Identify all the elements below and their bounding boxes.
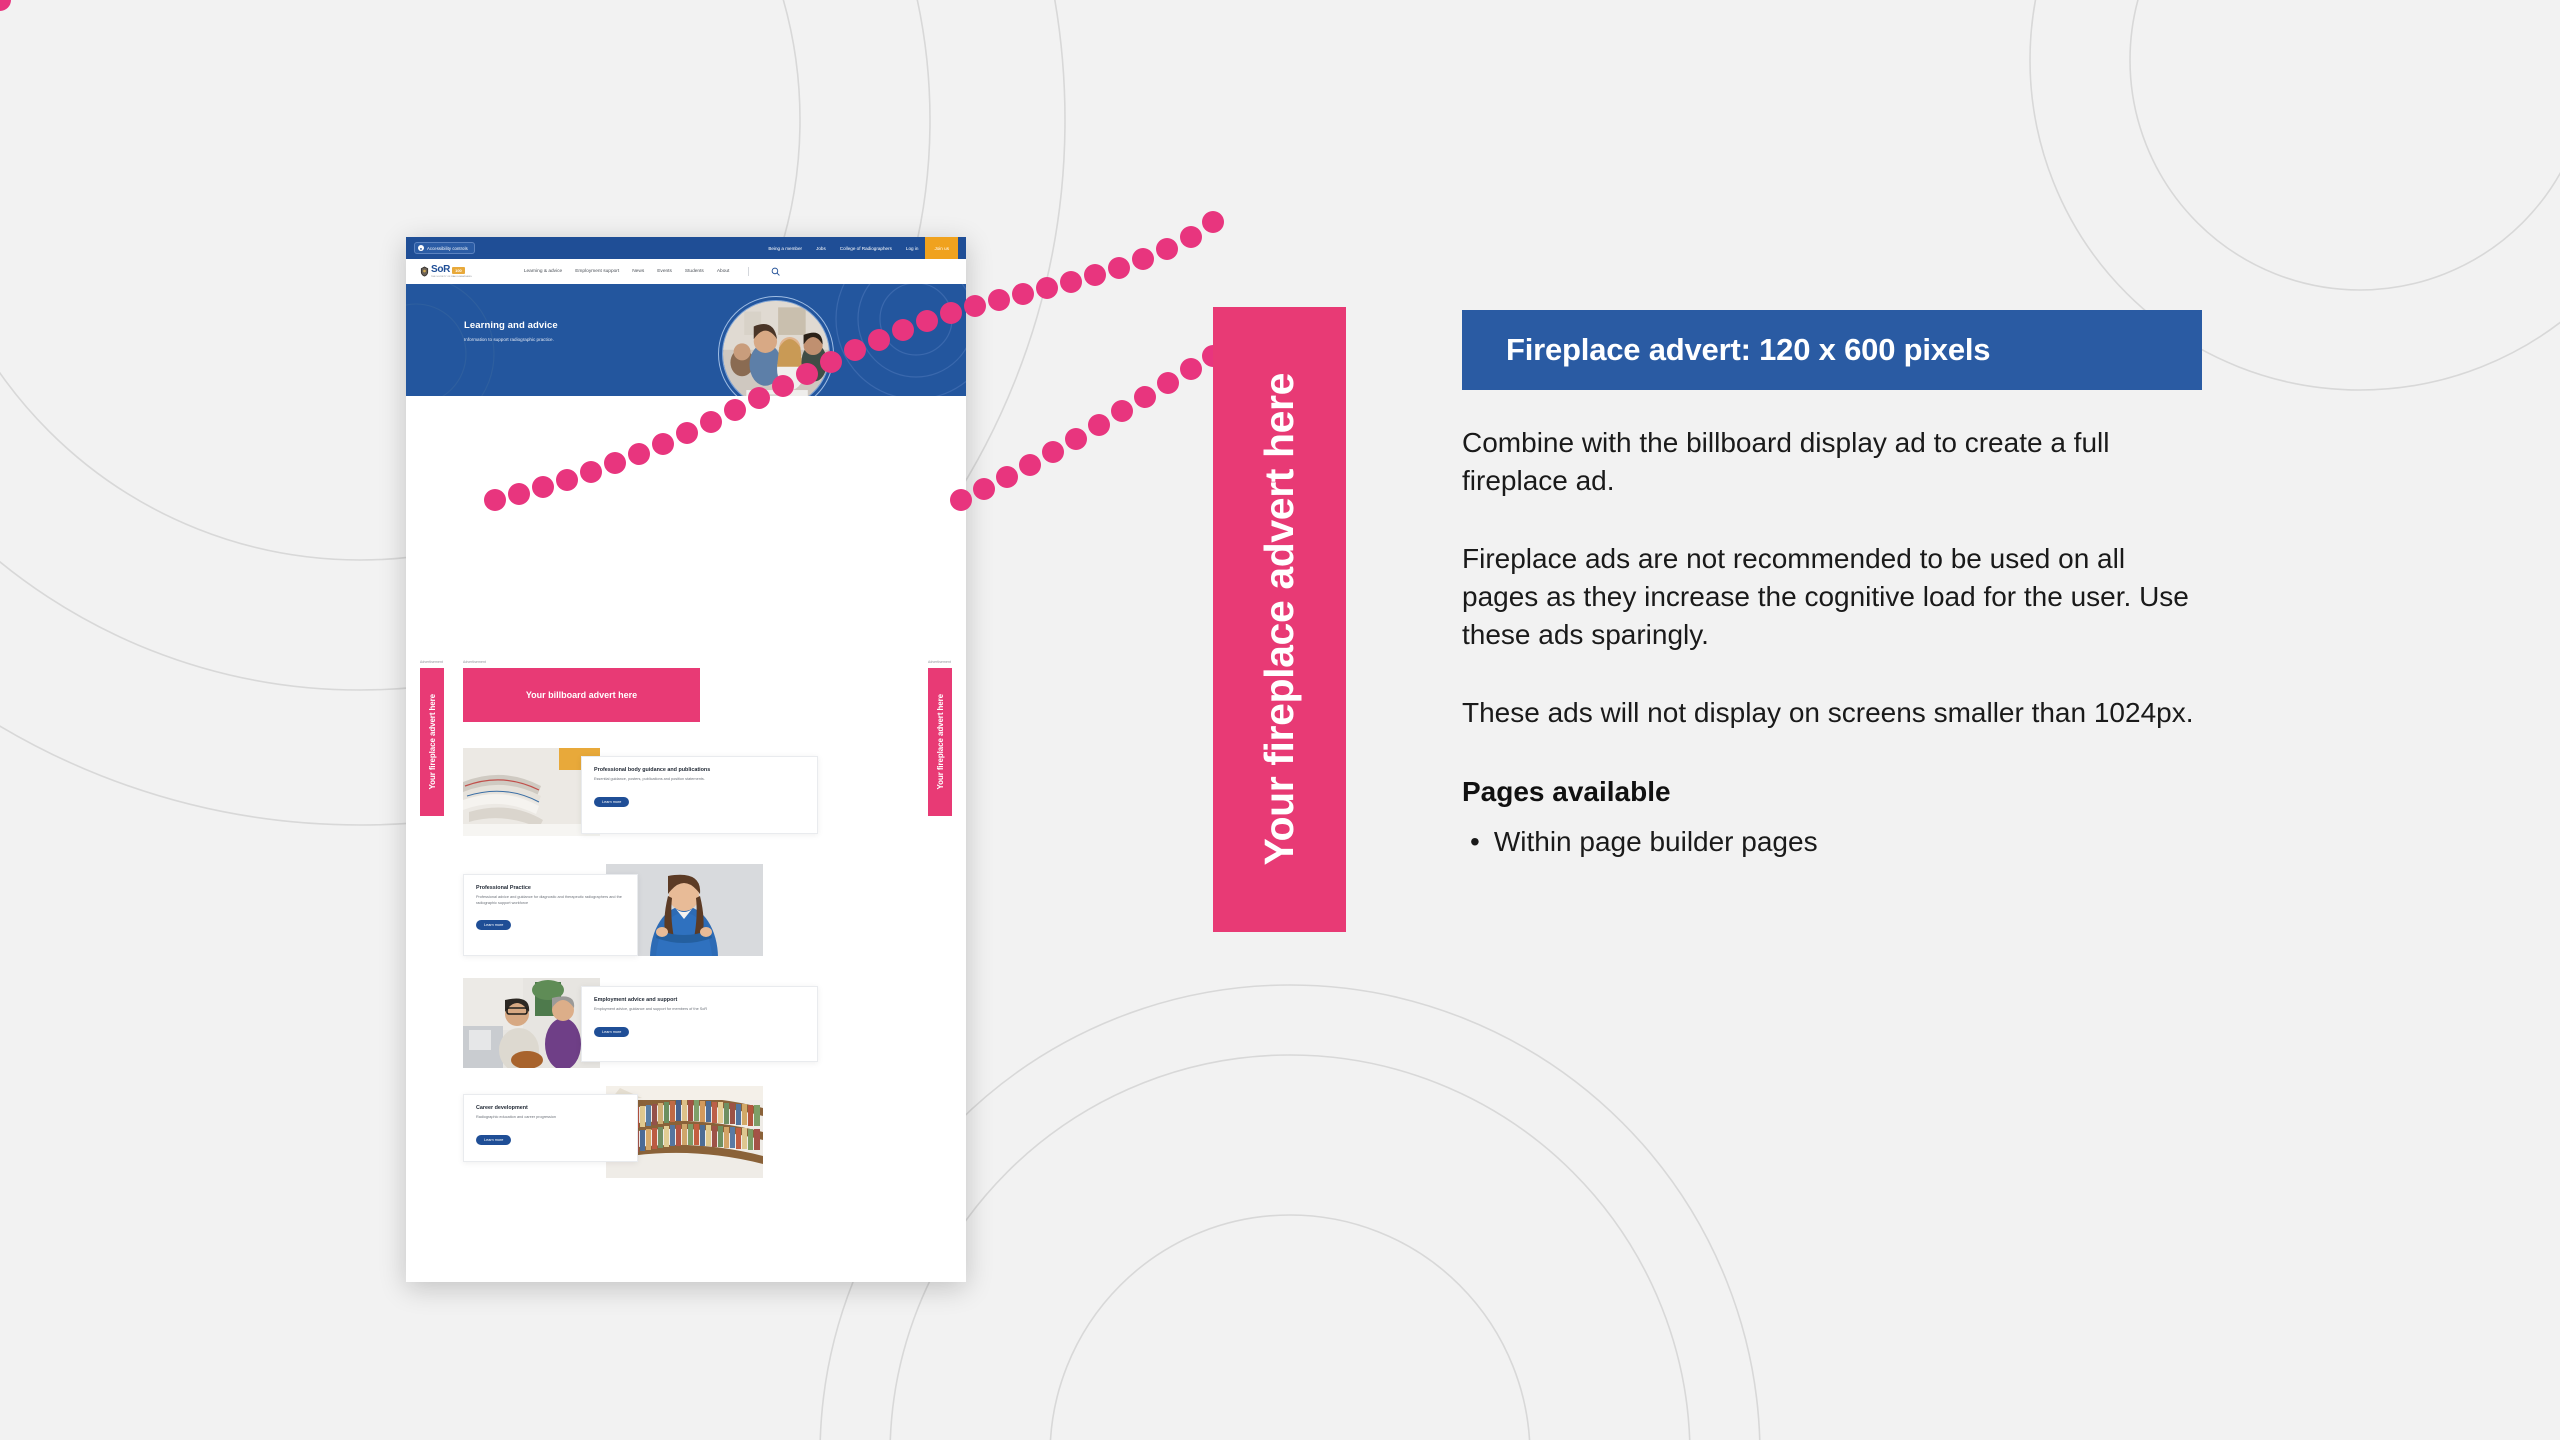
- info-paragraph-3: These ads will not display on screens sm…: [1462, 694, 2202, 732]
- billboard-ad-text: Your billboard advert here: [526, 690, 637, 700]
- hero-banner: Learning and advice Information to suppo…: [406, 284, 966, 396]
- nav-item-about[interactable]: About: [717, 269, 730, 274]
- crest-icon: [420, 266, 429, 277]
- info-paragraph-1: Combine with the billboard display ad to…: [1462, 424, 2202, 500]
- utility-topbar: ● Accessibility controls Being a member …: [406, 237, 966, 259]
- open-books-photo: [463, 748, 600, 836]
- logo-wordmark: SoR: [431, 265, 450, 275]
- billboard-ad[interactable]: Your billboard advert here: [463, 668, 700, 722]
- hero-subtitle: Information to support radiographic prac…: [464, 337, 558, 342]
- main-navbar: SoR 100 THE SOCIETY OF RADIOGRAPHERS Lea…: [406, 259, 966, 284]
- info-paragraph-2: Fireplace ads are not recommended to be …: [1462, 540, 2202, 654]
- logo-centenary-badge: 100: [452, 267, 465, 274]
- accessibility-icon: ●: [418, 245, 424, 251]
- hero-text-block: Learning and advice Information to suppo…: [464, 320, 558, 342]
- content-card-4-box: Career development Radiographic educatio…: [463, 1094, 638, 1162]
- content-card-1-learn-more-button[interactable]: Learn more: [594, 797, 629, 807]
- content-card-1-desc: Essential guidance, posters, publication…: [594, 777, 805, 783]
- utility-links: Being a member Jobs College of Radiograp…: [761, 237, 958, 259]
- advertisement-label-left: Advertisement: [420, 660, 443, 664]
- utility-link-join-us[interactable]: Join us: [925, 237, 958, 259]
- fireplace-ad-left-text: Your fireplace advert here: [428, 694, 437, 790]
- nav-item-news[interactable]: News: [632, 269, 644, 274]
- nav-item-students[interactable]: Students: [685, 269, 704, 274]
- nav-item-employment-support[interactable]: Employment support: [575, 269, 619, 274]
- hero-rings-decoration: [826, 284, 966, 396]
- utility-link-college-of-radiographers[interactable]: College of Radiographers: [833, 237, 899, 259]
- nav-item-events[interactable]: Events: [657, 269, 672, 274]
- content-card-2-learn-more-button[interactable]: Learn more: [476, 920, 511, 930]
- advertisement-label-right: Advertisement: [928, 660, 951, 664]
- website-mockup: ● Accessibility controls Being a member …: [406, 237, 966, 1282]
- content-card-3-learn-more-button[interactable]: Learn more: [594, 1027, 629, 1037]
- accessibility-label: Accessibility controls: [427, 246, 468, 251]
- primary-nav: Learning & advice Employment support New…: [524, 267, 781, 276]
- content-card-3-desc: Employment advice, guidance and support …: [594, 1007, 805, 1013]
- pages-available-list: • Within page builder pages: [1462, 826, 2202, 858]
- advertisement-label-billboard: Advertisement: [463, 660, 486, 664]
- hero-title: Learning and advice: [464, 320, 558, 331]
- counselling-session-photo: [463, 978, 600, 1068]
- content-card-1-title: Professional body guidance and publicati…: [594, 767, 805, 773]
- info-panel-heading: Fireplace advert: 120 x 600 pixels: [1462, 310, 2202, 390]
- bullet-glyph: •: [1470, 826, 1480, 858]
- content-card-1-box: Professional body guidance and publicati…: [581, 756, 818, 834]
- search-icon[interactable]: [771, 267, 780, 276]
- pages-available-heading: Pages available: [1462, 776, 2202, 808]
- content-card-3-title: Employment advice and support: [594, 997, 805, 1003]
- content-card-4-learn-more-button[interactable]: Learn more: [476, 1135, 511, 1145]
- sor-logo[interactable]: SoR 100 THE SOCIETY OF RADIOGRAPHERS: [420, 265, 472, 278]
- utility-link-jobs[interactable]: Jobs: [809, 237, 833, 259]
- content-card-2-title: Professional Practice: [476, 885, 625, 891]
- utility-link-log-in[interactable]: Log in: [899, 237, 926, 259]
- fireplace-ad-left[interactable]: Your fireplace advert here: [420, 668, 444, 816]
- content-card-4-desc: Radiographic education and career progre…: [476, 1115, 625, 1121]
- content-card-4-title: Career development: [476, 1105, 625, 1111]
- nav-item-learning-advice[interactable]: Learning & advice: [524, 269, 562, 274]
- info-panel: Fireplace advert: 120 x 600 pixels Combi…: [1462, 310, 2202, 858]
- logo-subtitle: THE SOCIETY OF RADIOGRAPHERS: [431, 276, 472, 278]
- accessibility-controls-button[interactable]: ● Accessibility controls: [414, 242, 475, 254]
- bullet-text: Within page builder pages: [1494, 826, 1818, 858]
- utility-link-being-a-member[interactable]: Being a member: [761, 237, 809, 259]
- fireplace-ad-right[interactable]: Your fireplace advert here: [928, 668, 952, 816]
- content-card-2-box: Professional Practice Professional advic…: [463, 874, 638, 956]
- content-card-2-desc: Professional advice and guidance for dia…: [476, 895, 625, 906]
- fireplace-callout-banner: Your fireplace advert here: [1213, 307, 1346, 932]
- fireplace-callout-text: Your fireplace advert here: [1256, 373, 1303, 865]
- content-card-3-box: Employment advice and support Employment…: [581, 986, 818, 1062]
- fireplace-ad-right-text: Your fireplace advert here: [936, 694, 945, 790]
- list-item: • Within page builder pages: [1462, 826, 2202, 858]
- students-group-photo: [723, 301, 829, 396]
- nav-divider: [748, 267, 749, 276]
- mockup-content: Advertisement Advertisement Advertisemen…: [406, 396, 966, 404]
